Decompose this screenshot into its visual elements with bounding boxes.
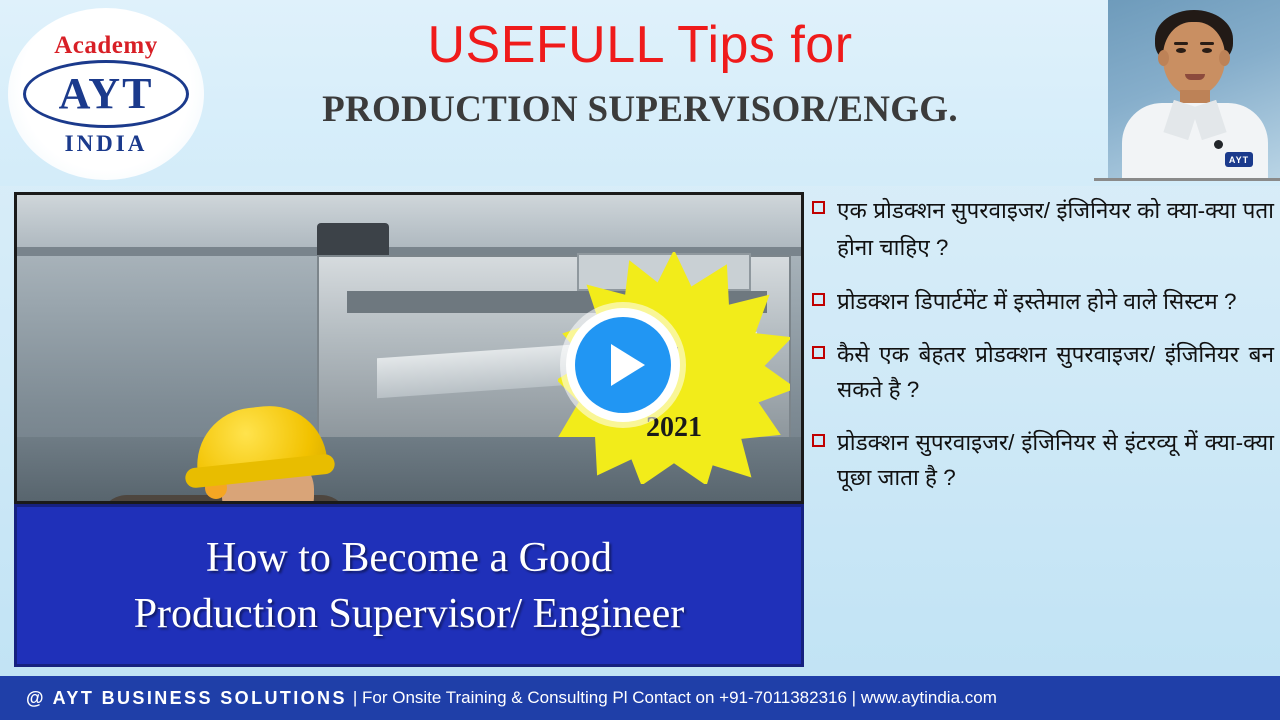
bullet-square-icon: [812, 201, 825, 214]
play-button-circle: [575, 317, 671, 413]
logo-academy-text: Academy: [54, 32, 157, 60]
logo-ellipse: AYT: [23, 60, 189, 128]
caption-banner: How to Become a Good Production Supervis…: [14, 504, 804, 667]
bullet-list: एक प्रोडक्शन सुपरवाइजर/ इंजिनियर को क्या…: [812, 192, 1274, 670]
play-icon: [611, 344, 645, 386]
presenter-ear-left: [1158, 50, 1169, 66]
bullet-square-icon: [812, 346, 825, 359]
presenter-eyebrow-left: [1174, 42, 1188, 45]
list-item: प्रोडक्शन डिपार्टमेंट में इस्तेमाल होने …: [812, 284, 1274, 319]
brand-logo: Academy AYT INDIA: [8, 8, 204, 180]
play-button[interactable]: [566, 308, 680, 422]
footer-contact: | For Onsite Training & Consulting Pl Co…: [353, 688, 997, 708]
factory-ceiling: [17, 195, 804, 249]
presenter-eyebrow-right: [1200, 42, 1214, 45]
presenter-ear-right: [1219, 50, 1230, 66]
bullet-text: एक प्रोडक्शन सुपरवाइजर/ इंजिनियर को क्या…: [837, 192, 1274, 266]
title-block: USEFULL Tips for PRODUCTION SUPERVISOR/E…: [210, 14, 1070, 136]
bullet-text: कैसे एक बेहतर प्रोडक्शन सुपरवाइजर/ इंजिन…: [837, 337, 1274, 407]
list-item: एक प्रोडक्शन सुपरवाइजर/ इंजिनियर को क्या…: [812, 192, 1274, 266]
presenter-face: [1163, 22, 1225, 96]
footer-bar: @ AYT BUSINESS SOLUTIONS | For Onsite Tr…: [0, 676, 1280, 720]
caption-line-2: Production Supervisor/ Engineer: [134, 586, 685, 642]
list-item: कैसे एक बेहतर प्रोडक्शन सुपरवाइजर/ इंजिन…: [812, 337, 1274, 407]
header: Academy AYT INDIA USEFULL Tips for PRODU…: [0, 0, 1280, 186]
presenter-eye-right: [1202, 48, 1212, 53]
presenter-eye-left: [1176, 48, 1186, 53]
logo-ayt-text: AYT: [59, 72, 154, 116]
bullet-text: प्रोडक्शन सुपरवाइजर/ इंजिनियर से इंटरव्य…: [837, 425, 1274, 495]
footer-brand: @ AYT BUSINESS SOLUTIONS: [26, 688, 347, 709]
bullet-square-icon: [812, 293, 825, 306]
presenter-shirt-badge: AYT: [1225, 152, 1253, 167]
starburst-text-line2: 2021: [558, 412, 790, 444]
bullet-text: प्रोडक्शन डिपार्टमेंट में इस्तेमाल होने …: [837, 284, 1274, 319]
presenter-mouth: [1185, 74, 1205, 80]
page-title-primary: USEFULL Tips for: [210, 14, 1070, 76]
caption-line-1: How to Become a Good: [206, 530, 612, 586]
page-title-secondary: PRODUCTION SUPERVISOR/ENGG.: [210, 84, 1070, 136]
presenter-underline: [1094, 178, 1280, 181]
slide-root: Academy AYT INDIA USEFULL Tips for PRODU…: [0, 0, 1280, 720]
presenter-video-thumbnail: AYT: [1108, 0, 1280, 178]
bullet-square-icon: [812, 434, 825, 447]
list-item: प्रोडक्शन सुपरवाइजर/ इंजिनियर से इंटरव्य…: [812, 425, 1274, 495]
lapel-microphone-icon: [1214, 140, 1223, 149]
logo-india-text: INDIA: [65, 131, 148, 157]
